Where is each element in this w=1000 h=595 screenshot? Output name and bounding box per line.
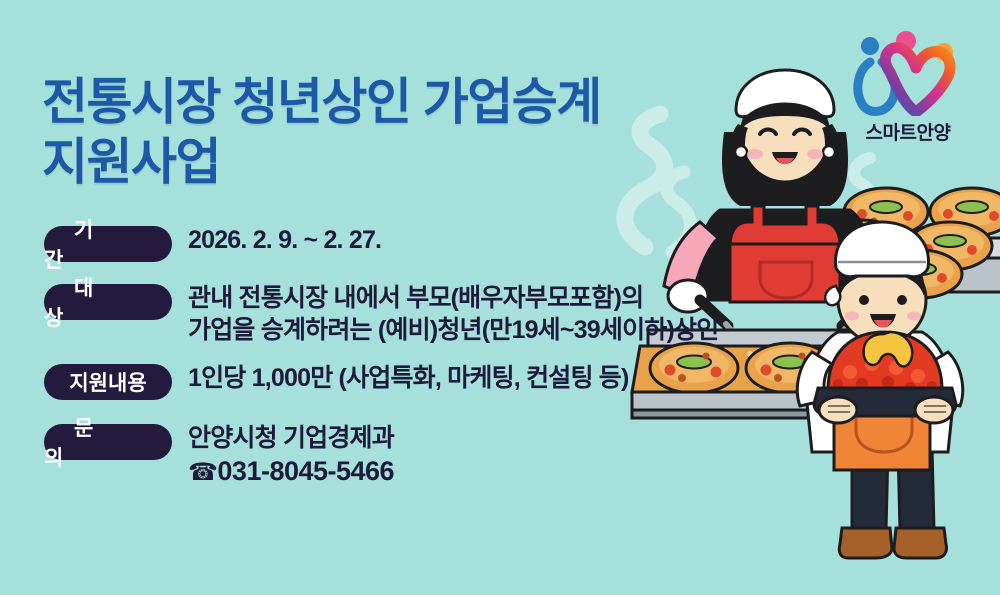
label-badge-contact: 문의: [44, 424, 172, 460]
jeon: [820, 220, 904, 268]
period-text: 2026. 2. 9. ~ 2. 27.: [188, 226, 381, 254]
jeon: [930, 188, 1000, 236]
tteokbokki-tray: [814, 332, 956, 423]
jeon: [908, 222, 992, 270]
info-row-contact: 문의 안양시청 기업경제과 ☎031-8045-5466: [44, 422, 718, 490]
info-list: 기간 2026. 2. 9. ~ 2. 27. 대상 관내 전통시장 내에서 부…: [44, 224, 718, 490]
value-support: 1인당 1,000만 (사업특화, 마케팅, 컨설팅 등): [188, 362, 629, 394]
info-row-support: 지원내용 1인당 1,000만 (사업특화, 마케팅, 컨설팅 등): [44, 362, 718, 400]
smart-anyang-logo: 스마트안양: [838, 28, 978, 145]
phone-number: 031-8045-5466: [217, 456, 394, 486]
telephone-icon: ☎: [188, 459, 217, 486]
value-target: 관내 전통시장 내에서 부모(배우자부모포함)의 가업을 승계하려는 (예비)청…: [188, 282, 718, 346]
target-text-line-2: 가업을 승계하려는 (예비)청년(만19세~39세이하)상인: [188, 314, 718, 346]
cooking-utensils: [700, 300, 870, 362]
jeon: [820, 339, 908, 389]
logo-mark: [848, 28, 968, 116]
title-line-1: 전통시장 청년상인 가업승계: [42, 72, 601, 132]
page-title: 전통시장 청년상인 가업승계 지원사업: [42, 72, 601, 192]
contact-phone: ☎031-8045-5466: [188, 454, 394, 490]
logo-text: 스마트안양: [838, 118, 978, 145]
info-row-period: 기간 2026. 2. 9. ~ 2. 27.: [44, 224, 718, 262]
label-badge-target: 대상: [44, 284, 172, 320]
jeon: [746, 343, 834, 393]
back-tray-with-jeon: [820, 188, 1000, 298]
value-contact: 안양시청 기업경제과 ☎031-8045-5466: [188, 422, 394, 490]
title-line-2: 지원사업: [42, 132, 601, 192]
target-text-line-1: 관내 전통시장 내에서 부모(배우자부모포함)의: [188, 282, 718, 314]
jeon: [878, 250, 962, 298]
support-text: 1인당 1,000만 (사업특화, 마케팅, 컨설팅 등): [188, 364, 629, 392]
contact-department: 안양시청 기업경제과: [188, 422, 394, 454]
info-row-target: 대상 관내 전통시장 내에서 부모(배우자부모포함)의 가업을 승계하려는 (예…: [44, 282, 718, 346]
value-period: 2026. 2. 9. ~ 2. 27.: [188, 224, 381, 256]
label-badge-period: 기간: [44, 226, 172, 262]
jeon: [844, 188, 928, 236]
label-badge-support: 지원내용: [44, 364, 172, 400]
man-holding-tteokbokki-tray: [797, 222, 962, 558]
poster: 전통시장 청년상인 가업승계 지원사업 기간 2026. 2. 9. ~ 2. …: [0, 0, 1000, 595]
